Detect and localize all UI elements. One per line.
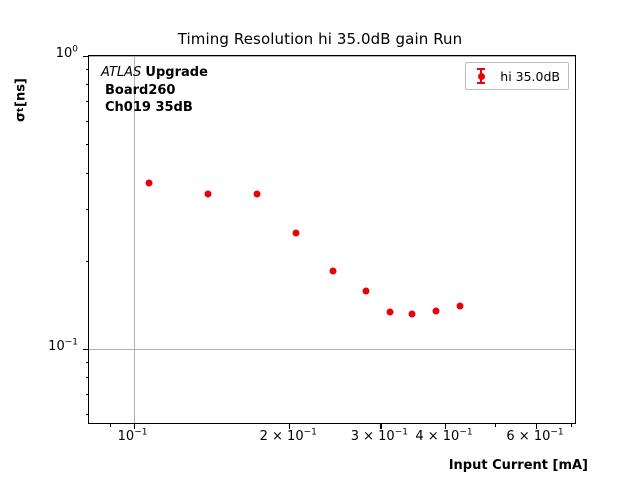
y-axis-label: σt [ns] bbox=[10, 55, 32, 145]
y-tick-major bbox=[83, 349, 89, 350]
y-axis-label-sigma: σ bbox=[14, 112, 29, 122]
y-tick-label: 100 bbox=[18, 46, 78, 61]
legend-errorbar-dot-marker-icon bbox=[472, 67, 490, 85]
x-tick-label: 2 × 10−1 bbox=[243, 429, 333, 444]
x-tick-label: 6 × 10−1 bbox=[490, 429, 580, 444]
data-point bbox=[386, 308, 393, 315]
annotation-block: ATLAS Upgrade Board260 Ch019 35dB bbox=[101, 64, 208, 117]
y-tick-minor bbox=[86, 414, 90, 415]
error-bar bbox=[411, 312, 412, 316]
x-tick-minor bbox=[495, 423, 496, 427]
error-bar bbox=[148, 181, 149, 184]
y-tick-minor bbox=[86, 69, 90, 70]
y-tick-minor bbox=[86, 173, 90, 174]
error-bar bbox=[207, 193, 208, 196]
y-tick-minor bbox=[86, 209, 90, 210]
data-point bbox=[253, 191, 260, 198]
figure-canvas: Timing Resolution hi 35.0dB gain Run σt … bbox=[0, 0, 640, 480]
error-bar bbox=[256, 193, 257, 196]
error-bar bbox=[332, 269, 333, 273]
error-bar bbox=[366, 288, 367, 293]
data-point bbox=[292, 230, 299, 237]
x-axis-label: Input Current [mA] bbox=[0, 458, 640, 473]
data-point bbox=[457, 303, 464, 310]
atlas-text: ATLAS bbox=[101, 65, 141, 80]
data-point bbox=[145, 179, 152, 186]
upgrade-text: Upgrade bbox=[145, 65, 207, 80]
data-point bbox=[433, 307, 440, 314]
y-tick-minor bbox=[86, 394, 90, 395]
data-point bbox=[363, 287, 370, 294]
y-tick-minor bbox=[86, 261, 90, 262]
x-tick-minor bbox=[110, 423, 111, 427]
x-tick-label: 10−1 bbox=[88, 429, 178, 444]
legend-label: hi 35.0dB bbox=[500, 69, 560, 84]
gridline-horizontal bbox=[89, 349, 575, 350]
y-axis-label-unit: [ns] bbox=[14, 78, 29, 107]
annotation-line-3: Ch019 35dB bbox=[101, 99, 208, 117]
y-tick-minor bbox=[86, 362, 90, 363]
x-tick-label: 4 × 10−1 bbox=[399, 429, 489, 444]
data-point bbox=[330, 267, 337, 274]
annotation-line-1: ATLAS Upgrade bbox=[101, 64, 208, 82]
data-point bbox=[408, 310, 415, 317]
y-tick-label: 10−1 bbox=[18, 339, 78, 354]
error-bar bbox=[459, 304, 460, 308]
annotation-line-2: Board260 bbox=[101, 82, 208, 100]
y-tick-minor bbox=[86, 144, 90, 145]
chart-title: Timing Resolution hi 35.0dB gain Run bbox=[0, 30, 640, 48]
legend-box[interactable]: hi 35.0dB bbox=[465, 62, 569, 90]
x-tick-minor bbox=[571, 423, 572, 427]
y-tick-major bbox=[83, 56, 89, 57]
y-tick-minor bbox=[86, 101, 90, 102]
y-tick-minor bbox=[86, 84, 90, 85]
error-bar bbox=[389, 310, 390, 314]
plot-area: ATLAS Upgrade Board260 Ch019 35dB hi 35.… bbox=[88, 55, 576, 424]
data-point bbox=[204, 191, 211, 198]
gridline-horizontal bbox=[89, 56, 575, 57]
y-tick-minor bbox=[86, 377, 90, 378]
error-bar bbox=[436, 309, 437, 313]
y-tick-minor bbox=[86, 121, 90, 122]
error-bar bbox=[295, 232, 296, 235]
